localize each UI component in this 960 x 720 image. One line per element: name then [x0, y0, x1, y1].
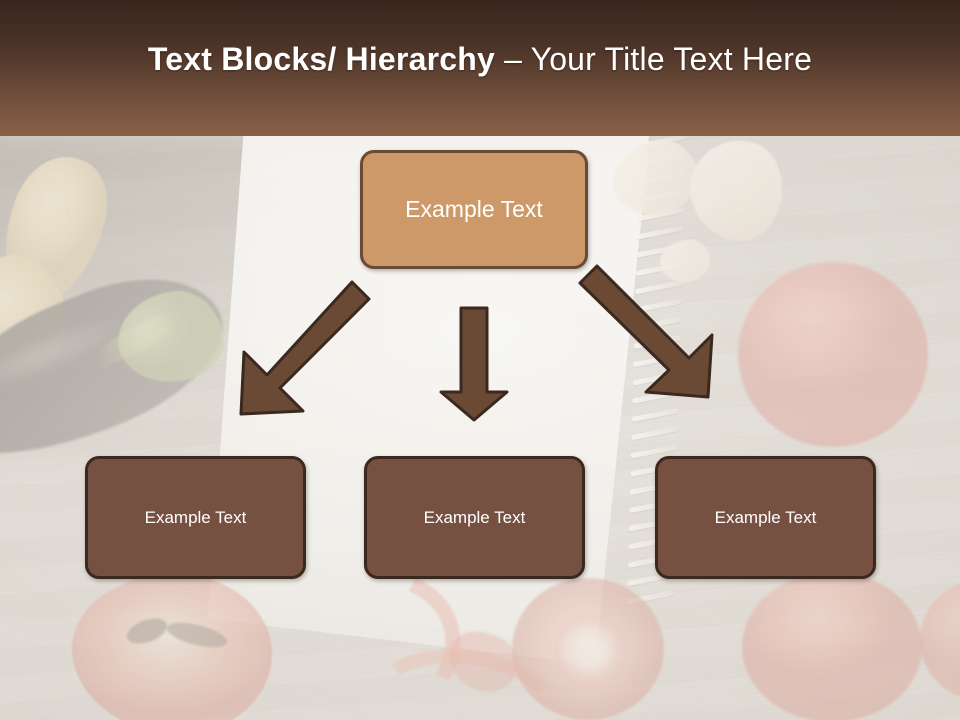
sliced-tomato-core [552, 612, 628, 690]
slide-canvas: Text Blocks/ Hierarchy – Your Title Text… [0, 0, 960, 720]
page-title-bold: Text Blocks/ Hierarchy [148, 41, 495, 77]
slide-header: Text Blocks/ Hierarchy – Your Title Text… [0, 0, 960, 136]
hierarchy-top-node[interactable]: Example Text [360, 150, 588, 269]
hierarchy-bottom-node-2[interactable]: Example Text [364, 456, 585, 579]
hierarchy-bottom-node-1[interactable]: Example Text [85, 456, 306, 579]
tomato-icon [738, 262, 928, 447]
tomato-icon [742, 572, 922, 720]
red-bell-pepper-icon [72, 574, 272, 720]
page-title-regular: – Your Title Text Here [495, 41, 812, 77]
hierarchy-bottom-node-3[interactable]: Example Text [655, 456, 876, 579]
page-title: Text Blocks/ Hierarchy – Your Title Text… [148, 41, 812, 78]
